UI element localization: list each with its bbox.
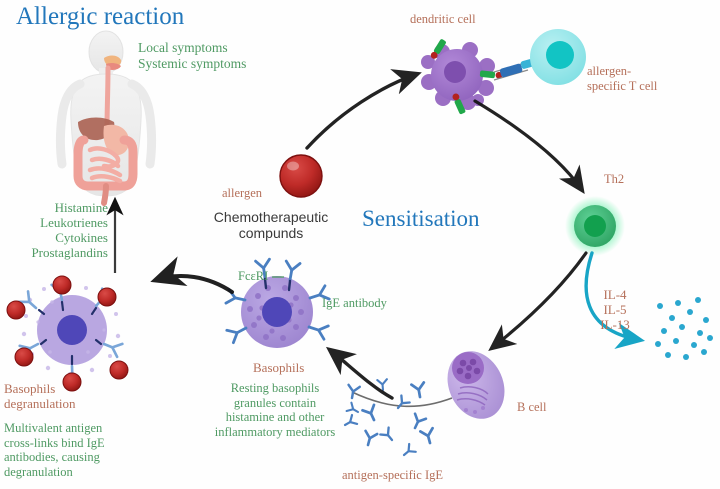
free-ige-antibodies: [342, 379, 436, 459]
label-antigen-specific-ige: antigen-specific IgE: [342, 468, 443, 483]
label-th2: Th2: [604, 172, 624, 187]
label-ige-antibody: IgE antibody: [322, 296, 387, 311]
dendritic-cell-graphic: [421, 38, 503, 114]
degranulating-basophil-graphic: [7, 276, 128, 391]
arrow-dendritic-to-th2: [475, 101, 582, 190]
label-local-systemic-symptoms: Local symptoms Systemic symptoms: [138, 40, 246, 71]
arrow-basophil-to-degranulation: [156, 276, 232, 292]
label-resting-basophils: Resting basophils granules contain hista…: [214, 381, 336, 439]
label-dendritic-cell: dendritic cell: [410, 12, 476, 27]
label-fceri: FcεRI: [238, 269, 268, 284]
allergen-specific-t-cell-graphic: [530, 29, 586, 85]
label-multivalent-antigen: Multivalent antigen cross-links bind IgE…: [4, 421, 105, 479]
b-cell-graphic: [437, 342, 515, 428]
page-title: Allergic reaction: [16, 2, 184, 31]
label-interleukins: IL-4 IL-5 IL-13: [590, 287, 640, 332]
bound-allergen-spheres: [7, 276, 128, 391]
sensitisation-heading: Sensitisation: [362, 206, 480, 233]
label-allergen: allergen: [222, 186, 262, 201]
tcr-mhc-bridge: [494, 59, 534, 80]
label-b-cell: B cell: [517, 400, 547, 415]
label-mediators: Histamine Leukotrienes Cytokines Prostag…: [18, 200, 108, 260]
label-basophils-degranulation: Basophils degranulation: [4, 381, 75, 411]
allergen-particle: [280, 155, 322, 197]
line-bcell-to-ige: [352, 392, 452, 406]
label-allergen-specific-t-cell: allergen- specific T cell: [587, 64, 657, 93]
label-chemotherapeutic-compounds: Chemotherapeutic compunds: [204, 209, 338, 241]
th2-cell-graphic: [565, 196, 625, 256]
mhc-peptide-complexes: [429, 38, 502, 114]
diagram-canvas: Allergic reaction Sensitisation Local sy…: [0, 0, 720, 489]
arrow-th2-to-bcell: [492, 253, 586, 348]
arrow-allergen-to-dendritic: [307, 74, 417, 148]
arrow-ige-to-basophil: [330, 350, 392, 398]
cytokine-dot-cloud: [655, 297, 713, 360]
label-basophils: Basophils: [253, 360, 304, 375]
